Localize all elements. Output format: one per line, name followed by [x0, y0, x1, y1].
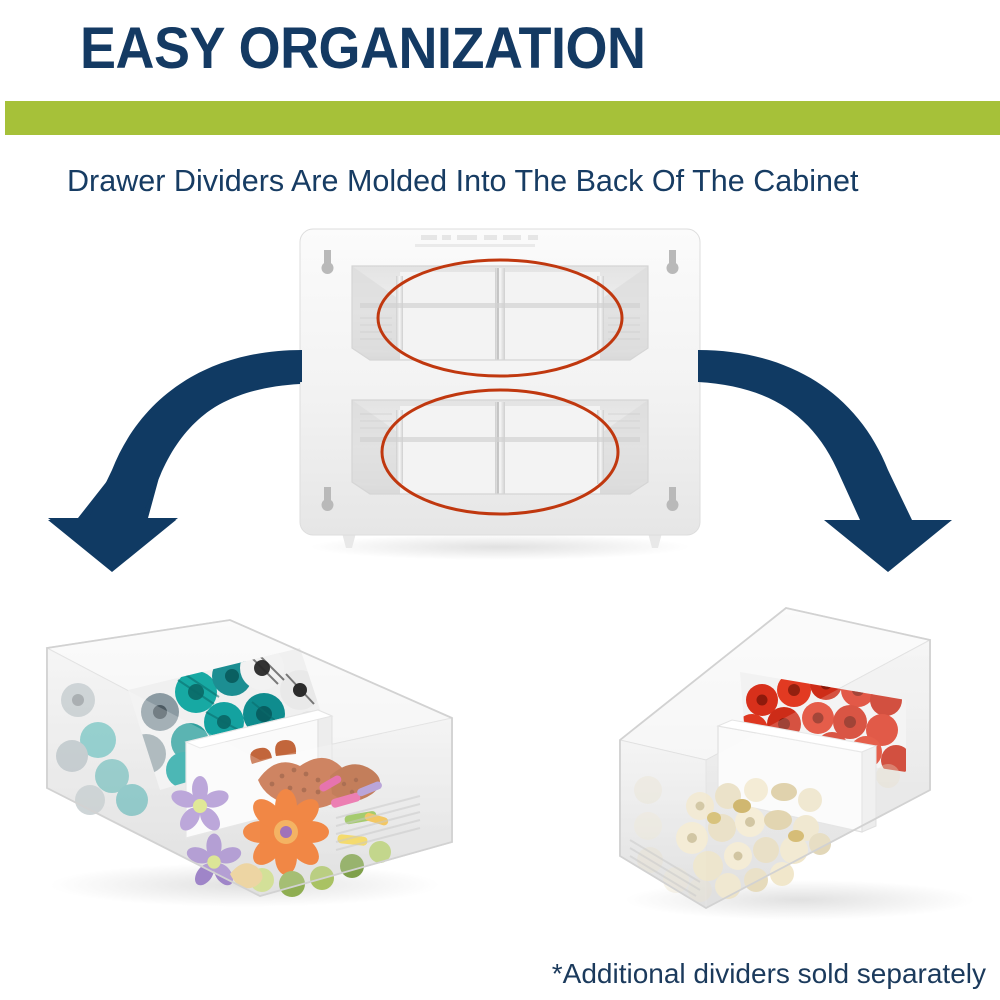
left-tray-body — [47, 620, 452, 896]
highlight-ellipse-upper — [378, 260, 622, 376]
front-edge-beads — [230, 841, 391, 897]
cabinet-image — [0, 0, 1000, 1000]
cabinet-foot-right — [648, 533, 662, 548]
right-tray-side-beads — [634, 764, 900, 902]
left-tray-outline — [47, 620, 452, 896]
cabinet-body — [300, 229, 700, 535]
curved-arrow-down-right-icon — [698, 350, 952, 572]
left-tray-clay-beads — [169, 740, 391, 897]
right-tray-body — [620, 608, 930, 908]
cabinet-drawer-slot-upper — [352, 266, 648, 360]
page-title: EASY ORGANIZATION — [80, 18, 645, 80]
right-tray-shadow — [625, 880, 975, 920]
cabinet-embossed-text — [415, 235, 538, 247]
accent-bar — [5, 101, 1000, 135]
right-tray-red-beads — [730, 660, 920, 780]
left-tray-front-gloss — [47, 648, 260, 896]
right-tray-cream-beads — [676, 778, 831, 899]
arrows-layer — [0, 0, 1000, 1000]
right-tray-illustration-layer — [0, 0, 1000, 1000]
cabinet-illustration-layer — [0, 0, 1000, 1000]
right-tray-grip-ribs — [630, 840, 700, 896]
left-tray-side-beads — [56, 683, 148, 816]
left-tray-shadow — [50, 863, 440, 907]
right-tray-image — [0, 0, 1000, 1000]
right-tray-outline — [620, 608, 930, 908]
tube-beads — [318, 774, 389, 846]
subtitle-text: Drawer Dividers Are Molded Into The Back… — [67, 162, 934, 200]
right-tray-divider — [718, 720, 876, 832]
left-tray-illustration-layer — [0, 0, 1000, 1000]
left-tray-right-gloss — [260, 718, 452, 896]
highlight-ellipse-lower — [382, 390, 618, 514]
left-tray-teal-beads — [110, 630, 360, 810]
left-tray-divider — [186, 710, 332, 838]
animal-clay-bead — [250, 740, 380, 809]
orange-flower-bead — [243, 789, 329, 875]
keyhole-mount-icon — [322, 250, 679, 511]
cabinet-shadow — [310, 534, 690, 560]
left-tray-grip-ribs — [336, 796, 420, 850]
right-tray-right-gloss — [706, 640, 930, 908]
footnote-text: *Additional dividers sold separately — [552, 958, 986, 990]
cabinet-drawer-slot-lower — [352, 400, 648, 494]
left-tray-image — [0, 0, 1000, 1000]
cabinet-foot-left — [342, 533, 356, 548]
curved-arrow-down-left-icon — [48, 350, 302, 572]
infographic-page: EASY ORGANIZATION Drawer Dividers Are Mo… — [0, 0, 1000, 1000]
right-tray-front-gloss — [620, 740, 706, 908]
purple-flower-bead — [169, 776, 243, 889]
